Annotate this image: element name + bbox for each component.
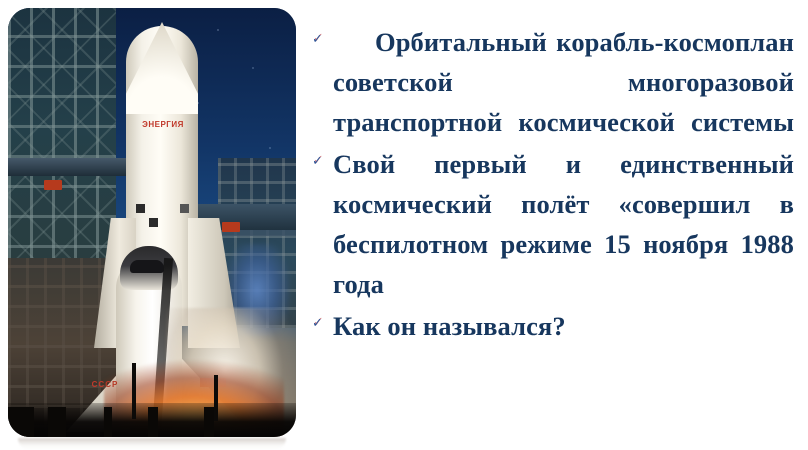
photo-hatch-a	[136, 204, 145, 213]
check-icon: ✓	[312, 306, 333, 330]
photo-hatch-c	[180, 204, 189, 213]
photo-mast-b	[214, 375, 218, 421]
bullet-text-2: Свой первый и единственный космический п…	[333, 144, 794, 304]
photo-red-marker-a	[44, 180, 62, 190]
slide-canvas: ЭНЕРГИЯ СССР ✓ Орбитальный корабль-космо…	[0, 0, 808, 450]
bullet-text-1: Орбитальный корабль-космоплан советской …	[333, 22, 794, 142]
photo-mast-a	[132, 363, 136, 419]
bullet-list: ✓ Орбитальный корабль-космоплан советско…	[312, 22, 794, 348]
photo-ground-silhouette	[8, 407, 296, 437]
photo-red-marker-b	[222, 222, 240, 232]
check-icon: ✓	[312, 144, 333, 168]
photo-service-arm-left	[8, 158, 128, 176]
photo-reflection	[18, 438, 286, 450]
photo-hatch-b	[149, 218, 158, 227]
list-item[interactable]: ✓ Свой первый и единственный космический…	[312, 144, 794, 304]
bullet-text-3: Как он назывался?	[333, 306, 794, 346]
photo-energia-label: ЭНЕРГИЯ	[130, 120, 196, 129]
list-item[interactable]: ✓ Орбитальный корабль-космоплан советско…	[312, 22, 794, 142]
list-item[interactable]: ✓ Как он назывался?	[312, 306, 794, 346]
energia-buran-launch-photo: ЭНЕРГИЯ СССР	[8, 8, 296, 437]
photo-orbiter-cockpit-windows	[130, 260, 164, 273]
check-icon: ✓	[312, 22, 333, 46]
